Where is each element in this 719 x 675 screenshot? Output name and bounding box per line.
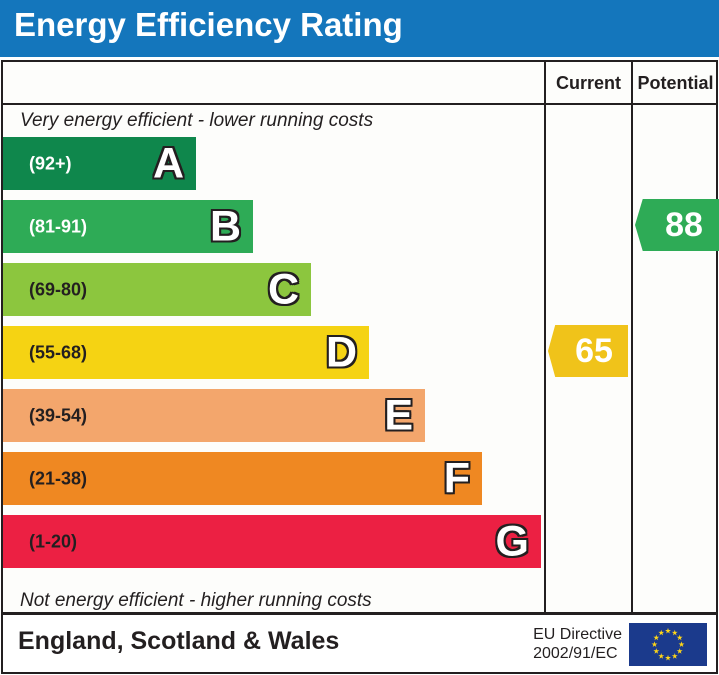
- band-row-d: (55-68)D: [3, 326, 369, 379]
- band-letter-c: C: [268, 268, 299, 311]
- band-row-f: (21-38)F: [3, 452, 482, 505]
- band-letter-a: A: [153, 142, 184, 185]
- chart-table: Current Potential Very energy efficient …: [1, 60, 718, 614]
- band-range-f: (21-38): [29, 468, 87, 489]
- potential-column-divider: [631, 62, 633, 612]
- band-letter-f: F: [444, 457, 470, 500]
- directive-line-1: EU Directive: [533, 625, 622, 644]
- energy-efficiency-rating-chart: Energy Efficiency Rating Current Potenti…: [0, 0, 719, 675]
- band-row-b: (81-91)B: [3, 200, 253, 253]
- header-row-divider: [3, 103, 716, 105]
- caption-inefficient: Not energy efficient - higher running co…: [20, 590, 372, 612]
- band-letter-d: D: [326, 331, 357, 374]
- band-letter-e: E: [384, 394, 413, 437]
- directive-line-2: 2002/91/EC: [533, 644, 622, 663]
- column-header-current: Current: [546, 71, 631, 95]
- band-range-b: (81-91): [29, 216, 87, 237]
- band-range-d: (55-68): [29, 342, 87, 363]
- chart-title-bar: Energy Efficiency Rating: [0, 0, 719, 57]
- band-row-a: (92+)A: [3, 137, 196, 190]
- band-bars: (92+)A(81-91)B(69-80)C(55-68)D(39-54)E(2…: [3, 136, 544, 586]
- page-title: Energy Efficiency Rating: [14, 6, 403, 44]
- band-range-g: (1-20): [29, 531, 77, 552]
- rating-arrow-potential: 88: [635, 199, 719, 251]
- caption-efficient: Very energy efficient - lower running co…: [20, 110, 373, 132]
- column-header-potential: Potential: [633, 71, 718, 95]
- band-letter-b: B: [210, 205, 241, 248]
- footer-region-label: England, Scotland & Wales: [18, 627, 339, 656]
- band-letter-g: G: [496, 520, 529, 563]
- band-row-c: (69-80)C: [3, 263, 311, 316]
- band-range-c: (69-80): [29, 279, 87, 300]
- footer-directive-label: EU Directive 2002/91/EC: [533, 625, 622, 663]
- band-row-e: (39-54)E: [3, 389, 425, 442]
- current-column-divider: [544, 62, 546, 612]
- rating-value-potential: 88: [653, 208, 703, 242]
- chart-footer: England, Scotland & Wales EU Directive 2…: [1, 613, 718, 674]
- rating-value-current: 65: [563, 334, 613, 368]
- band-row-g: (1-20)G: [3, 515, 541, 568]
- rating-arrow-current: 65: [548, 325, 628, 377]
- band-range-a: (92+): [29, 153, 72, 174]
- eu-flag-icon: [629, 623, 707, 666]
- band-range-e: (39-54): [29, 405, 87, 426]
